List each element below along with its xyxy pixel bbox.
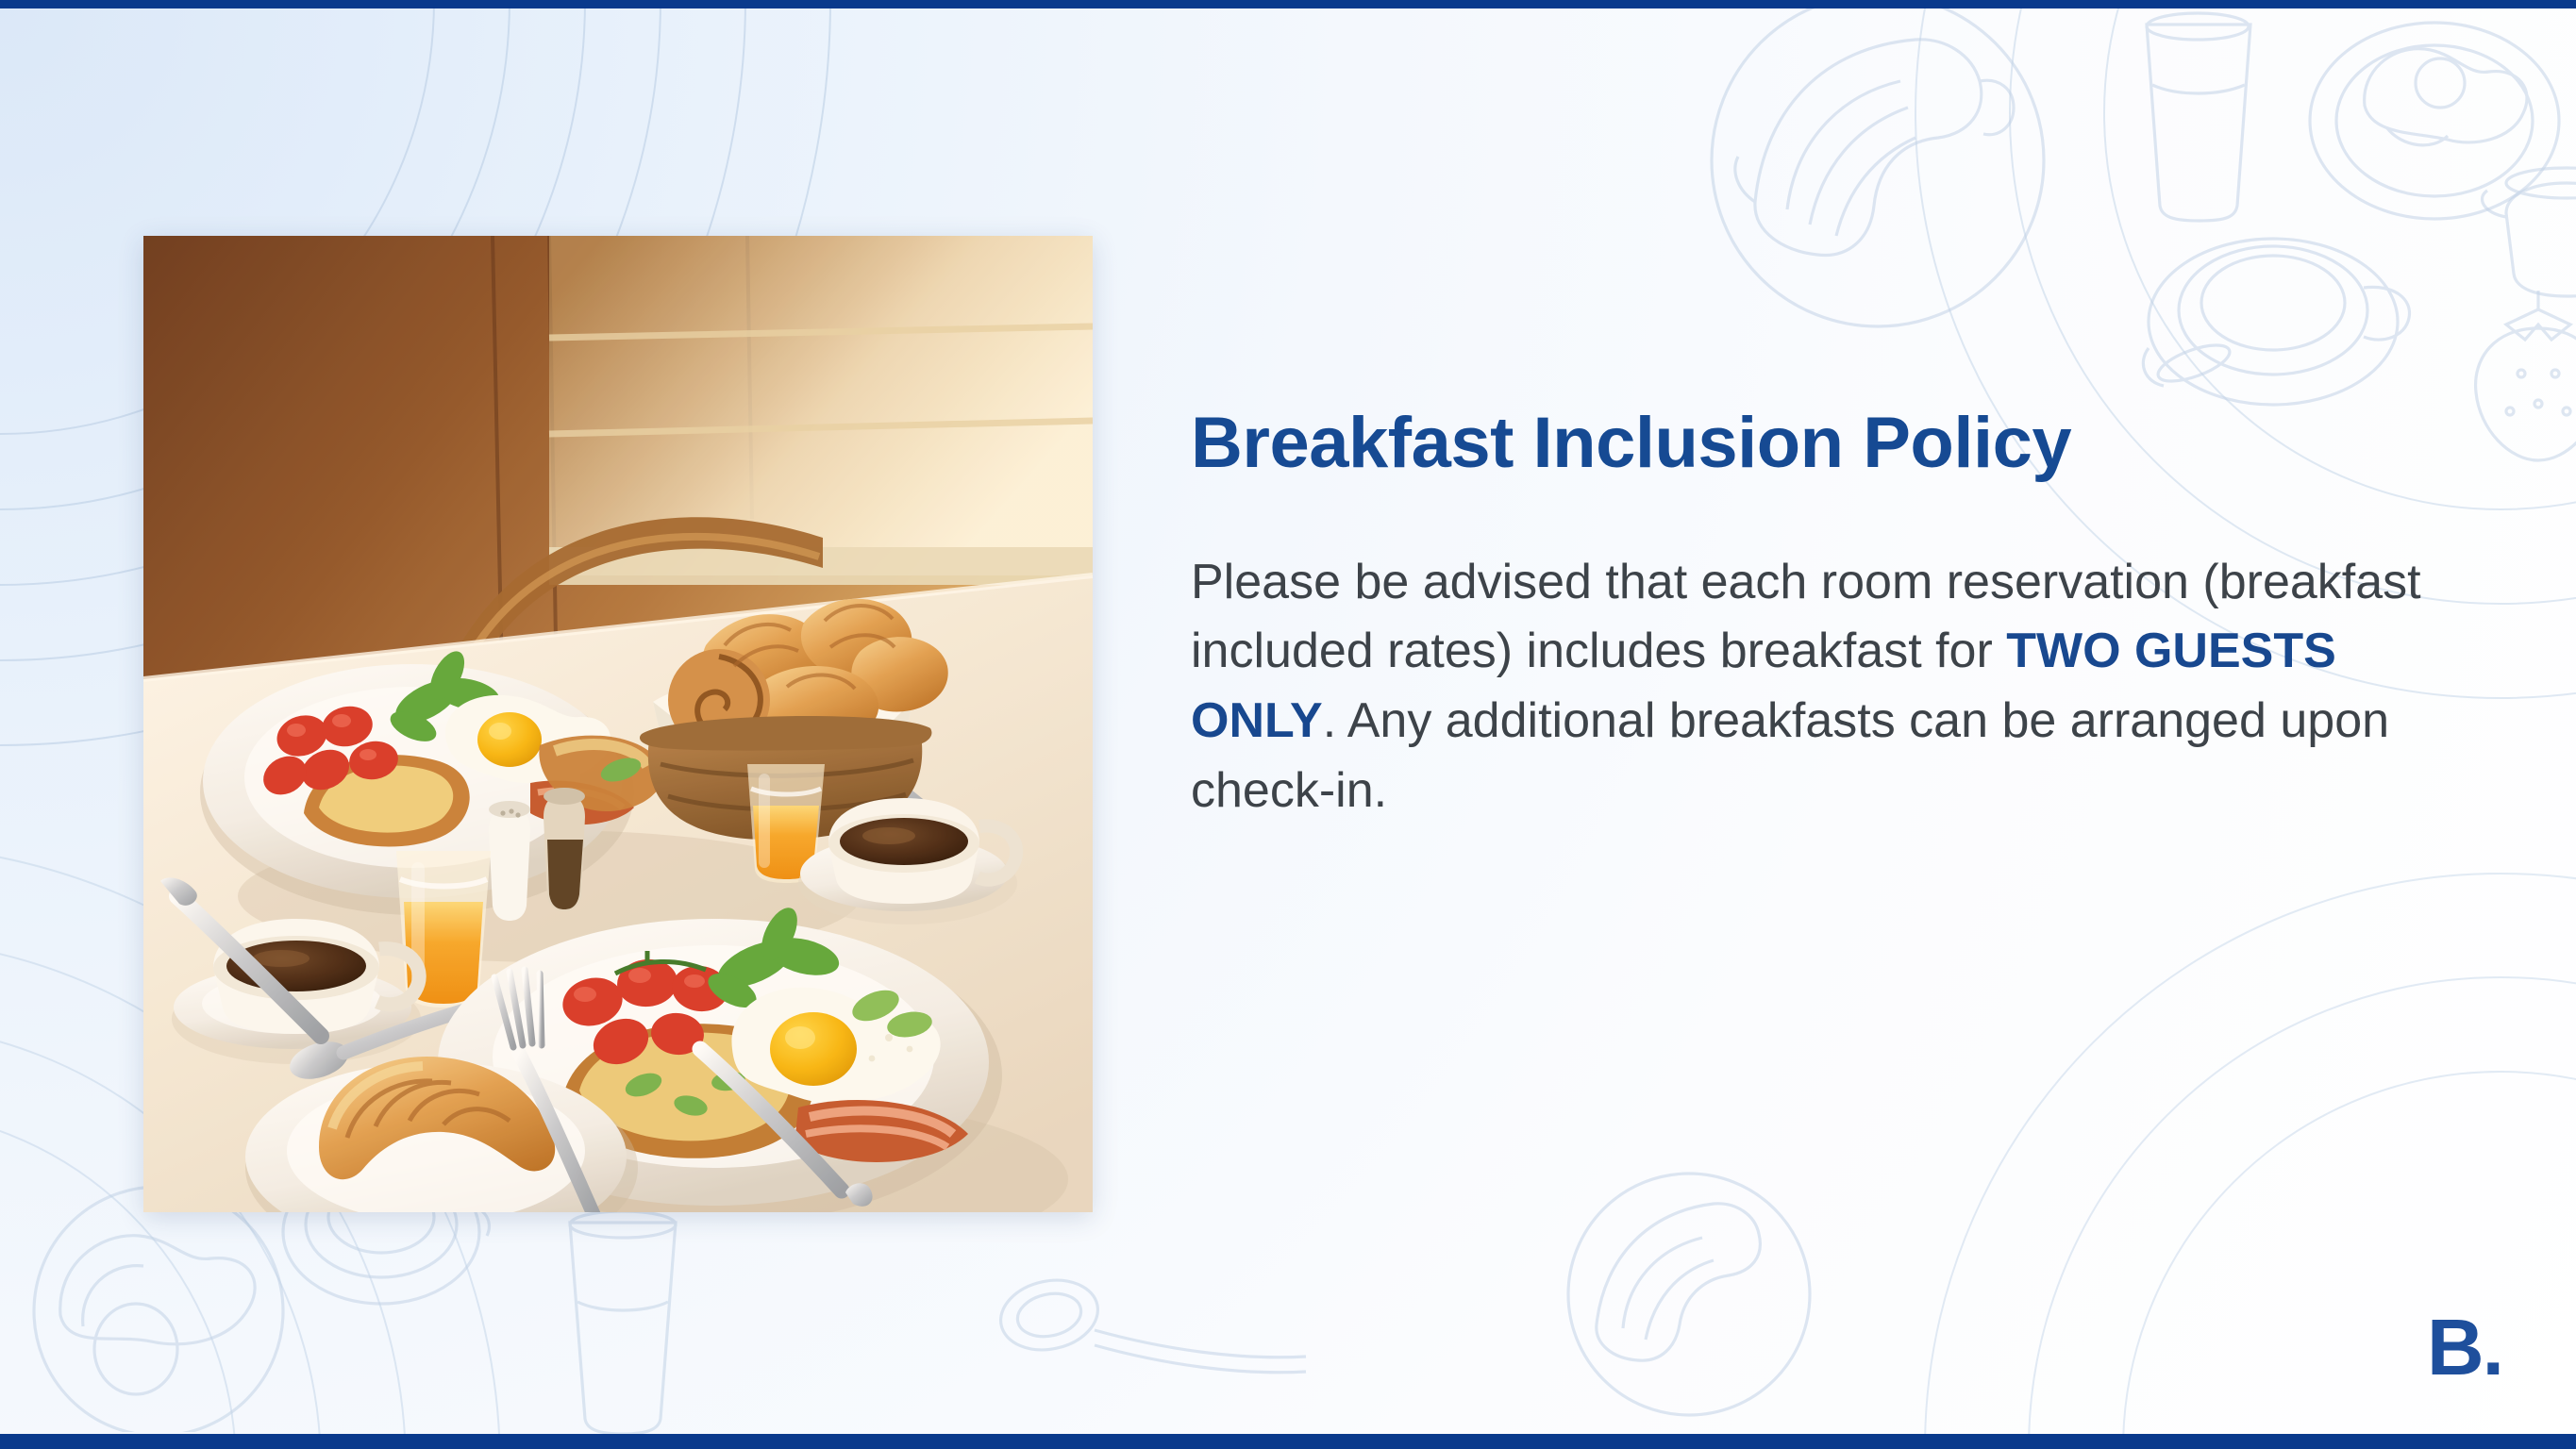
slide-canvas: Breakfast Inclusion Policy Please be adv… [0, 0, 2576, 1449]
brand-logo: B. [2427, 1307, 2502, 1387]
policy-body-text: Please be advised that each room reserva… [1191, 548, 2493, 826]
croissant-watermark [1689, 0, 2066, 349]
text-column: Breakfast Inclusion Policy Please be adv… [1191, 406, 2502, 826]
page-title: Breakfast Inclusion Policy [1191, 406, 2502, 482]
breakfast-illustration-art [143, 236, 1093, 1212]
croissant-watermark-bottom [1547, 1147, 1831, 1430]
fried-egg-watermark [2293, 0, 2576, 234]
teapot-watermark [2472, 142, 2576, 311]
breakfast-illustration [143, 236, 1093, 1212]
top-accent-rule [0, 0, 2576, 8]
policy-body-part2: . Any additional breakfasts can be arran… [1191, 693, 2389, 818]
juice-glass-watermark-bottom [528, 1204, 717, 1440]
bottom-accent-rule [0, 1434, 2576, 1449]
coffee-cup-watermark [2137, 175, 2439, 420]
spoon-watermark [981, 1236, 1321, 1406]
juice-glass-watermark [2109, 9, 2288, 226]
